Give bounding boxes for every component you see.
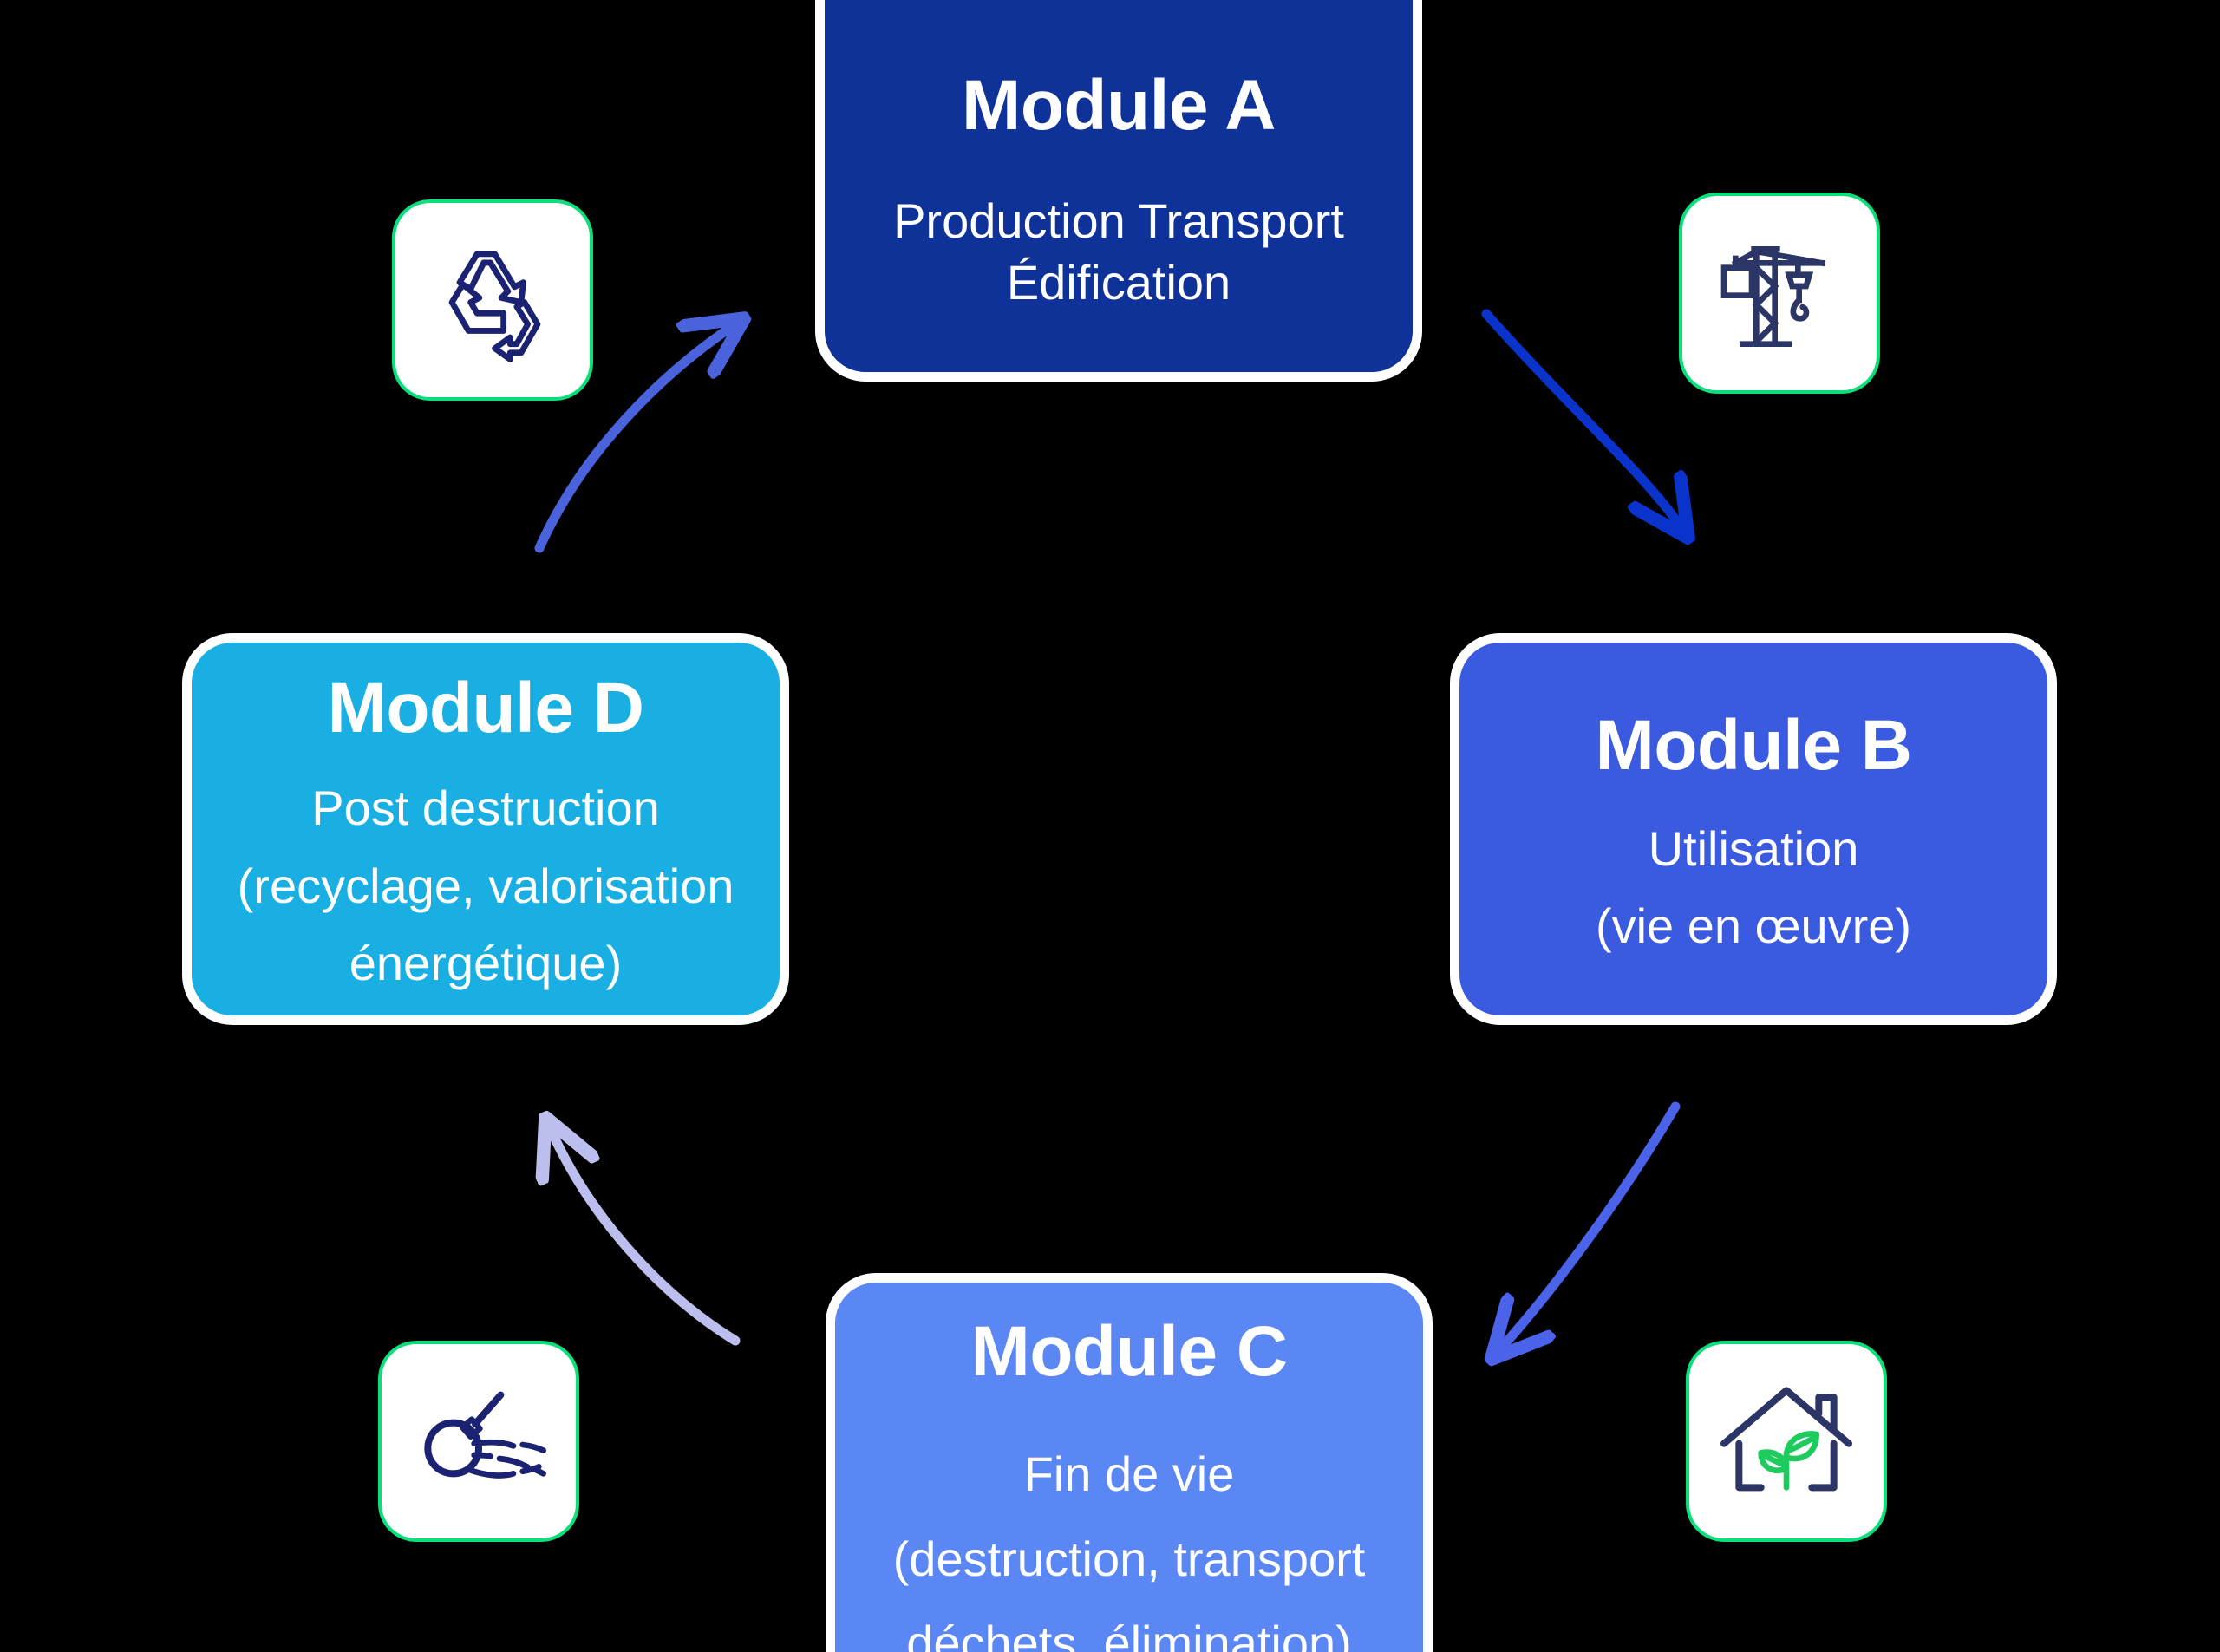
module-b-card[interactable]: Module B Utilisation (vie en œuvre) [1450,633,2057,1025]
module-b-subtitle-line-2: (vie en œuvre) [1596,895,1911,957]
module-d-subtitle-line-3: énergétique) [349,932,622,995]
diagram-canvas: Module A Production Transport Édificatio… [0,0,2220,1652]
arrow-a-to-b [1486,314,1682,529]
module-c-subtitle-line-3: déchets, élimination) [906,1612,1352,1652]
module-d-subtitle-line-1: Post destruction [311,777,660,839]
recycle-icon [427,234,558,366]
module-b-subtitle-line-1: Utilisation [1649,818,1859,880]
module-c-card[interactable]: Module C Fin de vie (destruction, transp… [826,1273,1433,1652]
module-d-title: Module D [328,663,644,754]
wrecking-ball-icon [409,1372,548,1511]
module-b-title: Module B [1596,701,1912,792]
module-a-card[interactable]: Module A Production Transport Édificatio… [815,0,1422,382]
module-d-subtitle-line-2: (recyclage, valorisation [238,855,735,917]
module-a-subtitle-line-1: Production Transport [893,190,1344,252]
module-d-card[interactable]: Module D Post destruction (recyclage, va… [182,633,789,1025]
module-c-subtitle-line-2: (destruction, transport [893,1528,1366,1590]
arrow-b-to-c [1498,1107,1675,1351]
module-c-subtitle-line-1: Fin de vie [1024,1443,1235,1505]
wrecking-ball-icon-tile [378,1341,579,1542]
crane-icon [1710,224,1849,362]
crane-icon-tile [1679,193,1880,394]
module-a-title: Module A [962,61,1276,152]
module-c-title: Module C [971,1307,1288,1398]
eco-house-icon [1717,1372,1856,1511]
eco-house-icon-tile [1686,1341,1887,1542]
module-a-subtitle-line-2: Édification [1007,251,1231,314]
arrow-c-to-d [550,1127,735,1341]
recycle-icon-tile [392,199,593,401]
